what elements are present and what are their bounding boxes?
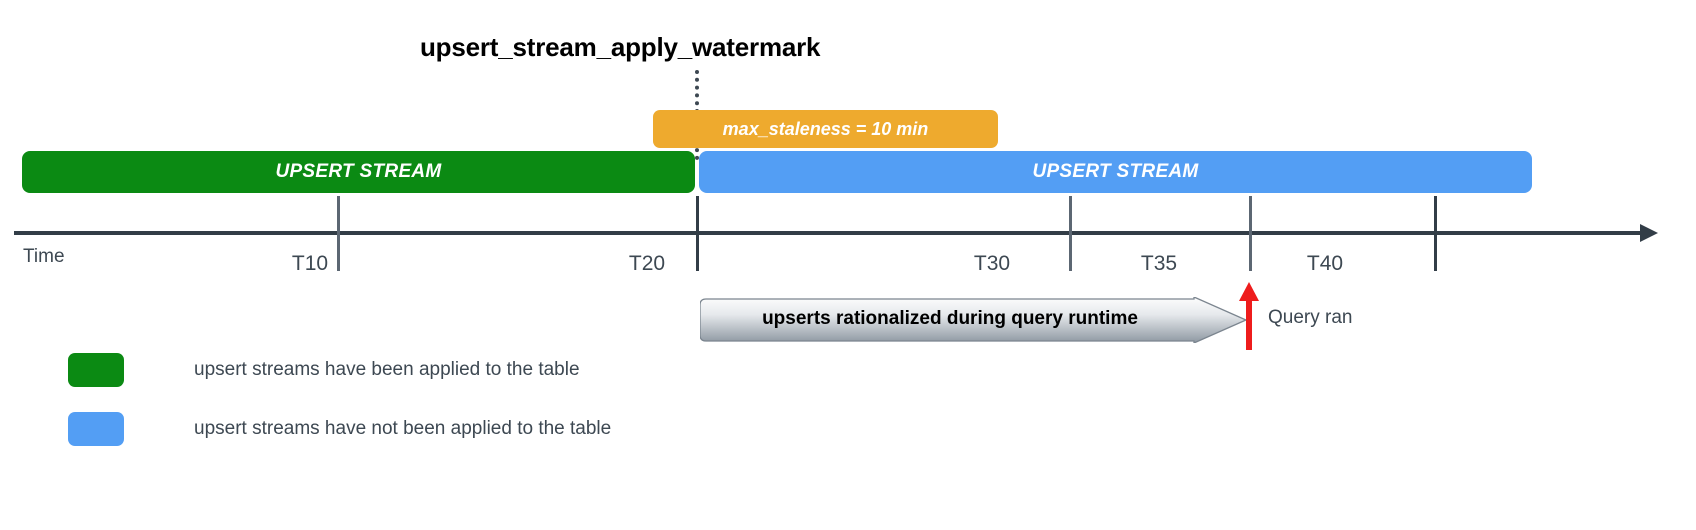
axis-tick-label-t35: T35 (1141, 252, 1177, 276)
query-ran-arrow-icon (1238, 282, 1260, 350)
upsert-stream-unapplied-label: UPSERT STREAM (1032, 161, 1198, 183)
upsert-stream-unapplied-bar: UPSERT STREAM (699, 151, 1532, 193)
axis-tick-t20 (696, 196, 699, 271)
legend-item-unapplied: upsert streams have not been applied to … (68, 412, 611, 446)
legend-swatch-applied (68, 353, 124, 387)
legend-swatch-unapplied (68, 412, 124, 446)
axis-tick-label-t20: T20 (629, 252, 665, 276)
rationalization-banner-label: upserts rationalized during query runtim… (700, 308, 1200, 330)
diagram-canvas: upsert_stream_apply_watermark max_stalen… (0, 0, 1696, 530)
axis-tick-label-t40: T40 (1307, 252, 1343, 276)
page-title: upsert_stream_apply_watermark (420, 32, 820, 63)
time-axis-caption: Time (23, 246, 65, 268)
axis-tick-label-t30: T30 (974, 252, 1010, 276)
legend-item-applied: upsert streams have been applied to the … (68, 353, 580, 387)
axis-tick-t40 (1434, 196, 1437, 271)
upsert-stream-applied-bar: UPSERT STREAM (22, 151, 695, 193)
legend-label-unapplied: upsert streams have not been applied to … (194, 418, 611, 440)
axis-tick-t10 (337, 196, 340, 271)
query-ran-label: Query ran (1268, 307, 1352, 329)
max-staleness-bar: max_staleness = 10 min (653, 110, 998, 148)
legend-label-applied: upsert streams have been applied to the … (194, 359, 580, 381)
time-axis-line (14, 231, 1646, 235)
upsert-stream-applied-label: UPSERT STREAM (275, 161, 441, 183)
max-staleness-label: max_staleness = 10 min (723, 119, 929, 140)
axis-tick-t30 (1069, 196, 1072, 271)
time-axis-arrow-icon (1640, 224, 1658, 242)
axis-tick-label-t10: T10 (292, 252, 328, 276)
axis-tick-t35 (1249, 196, 1252, 271)
